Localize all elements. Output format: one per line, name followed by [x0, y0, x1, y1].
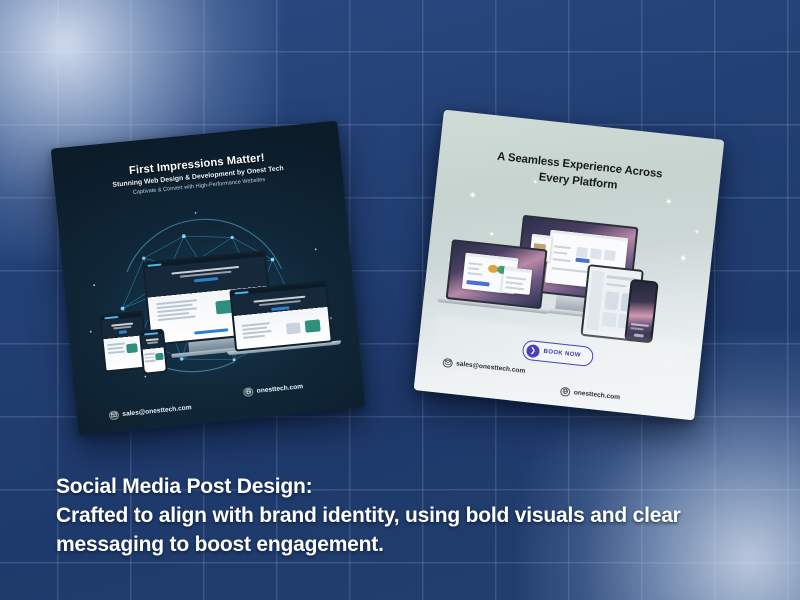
caption-line-3: messaging to boost engagement. — [56, 531, 746, 560]
card-left-content: First Impressions Matter! Stunning Web D… — [51, 121, 366, 436]
social-post-card-left[interactable]: First Impressions Matter! Stunning Web D… — [51, 121, 366, 436]
card-right-content: ✦ ✦ ✦ ✦ ✦ ✦ ✦ ✦ A Seamless Experience Ac… — [414, 110, 725, 421]
card-right-email[interactable]: sales@onesttech.com — [442, 357, 526, 375]
social-post-card-right[interactable]: ✦ ✦ ✦ ✦ ✦ ✦ ✦ ✦ A Seamless Experience Ac… — [414, 110, 725, 421]
caption-block: Social Media Post Design: Crafted to ali… — [56, 473, 746, 560]
card-right-header: A Seamless Experience Across Every Platf… — [437, 143, 721, 205]
sparkle-icon: ✦ — [468, 191, 476, 201]
device-phone — [139, 329, 168, 375]
card-left-website-text: onesttech.com — [256, 383, 303, 395]
card-left-email-text: sales@onesttech.com — [122, 404, 192, 418]
card-right-website[interactable]: onesttech.com — [560, 386, 621, 402]
card-right-website-text: onesttech.com — [573, 389, 620, 401]
book-now-label: BOOK NOW — [543, 349, 581, 359]
globe-icon — [243, 387, 253, 397]
envelope-icon — [108, 410, 118, 420]
card-left-device-mockups — [84, 238, 339, 389]
device-phone — [624, 279, 659, 344]
globe-icon — [560, 386, 570, 396]
device-laptop — [229, 280, 333, 351]
chevron-right-icon: ❯ — [526, 343, 540, 357]
caption-line-1: Social Media Post Design: — [56, 473, 746, 502]
card-left-website[interactable]: onesttech.com — [243, 382, 304, 397]
slide-canvas: First Impressions Matter! Stunning Web D… — [0, 0, 800, 600]
card-right-email-text: sales@onesttech.com — [456, 360, 526, 374]
caption-line-2: Crafted to align with brand identity, us… — [56, 502, 746, 531]
device-macbook-pro — [446, 239, 548, 309]
card-left-email[interactable]: sales@onesttech.com — [108, 403, 191, 421]
card-right-device-mockups — [439, 207, 696, 345]
envelope-icon — [442, 357, 452, 367]
apple-logo-icon — [568, 298, 576, 307]
